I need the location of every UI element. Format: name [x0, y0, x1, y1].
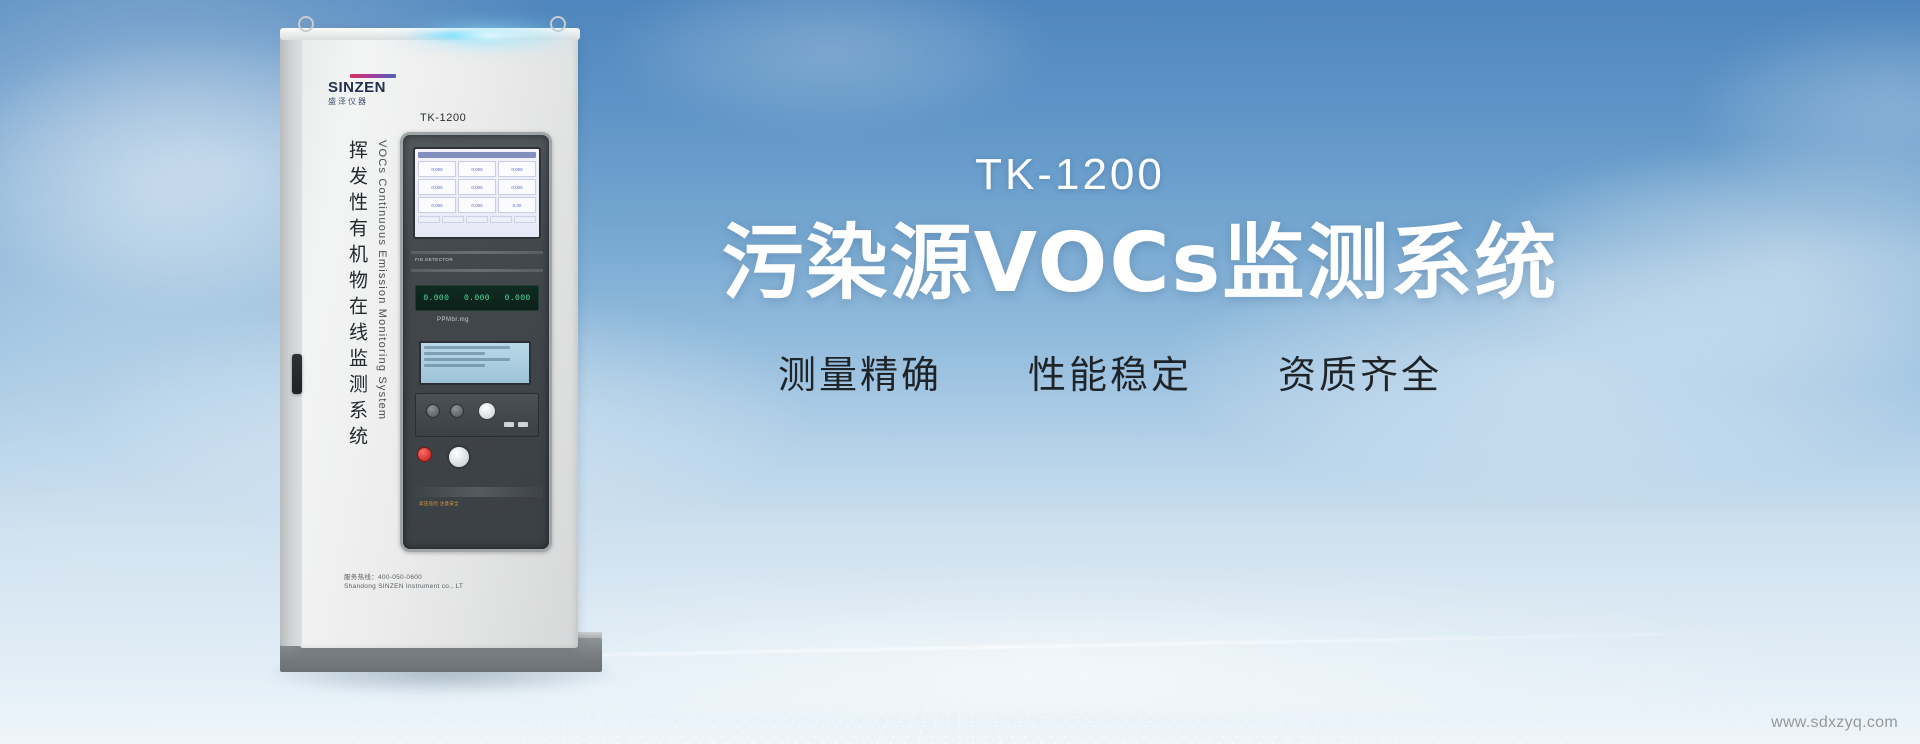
feature-item: 资质齐全	[1278, 344, 1442, 399]
rotary-knob-icon[interactable]	[450, 404, 464, 418]
lower-module-strip	[413, 487, 543, 497]
gas-readout-display: 0.000 0.000 0.000	[415, 285, 539, 311]
lcd-line	[424, 346, 510, 349]
rotary-knob-icon[interactable]	[426, 404, 440, 418]
cabinet-footer-label: 服务热线：400-050-0600 Shandong SINZEN Instru…	[344, 574, 463, 592]
hmi-cell: 0.000	[418, 197, 456, 213]
cabinet-brand: SINZEN 盛泽仪器	[328, 74, 448, 107]
hmi-footer-button	[466, 216, 488, 223]
readout-value: 0.000	[505, 294, 531, 303]
lcd-line	[424, 364, 485, 367]
toggle-switch-icon[interactable]	[504, 422, 514, 427]
module-divider	[411, 269, 543, 272]
product-banner: SINZEN 盛泽仪器 TK-1200 挥发性有机物在线监测系统 VOCs Co…	[0, 0, 1920, 744]
brand-name-cn: 盛泽仪器	[328, 96, 448, 107]
readout-unit-label: PPMbr.mg	[437, 317, 469, 323]
hmi-cell: 0.000	[458, 197, 496, 213]
emergency-stop-button[interactable]	[417, 447, 432, 462]
lcd-line	[424, 358, 510, 361]
warning-label: 高压危险 注意安全	[419, 501, 459, 507]
feature-item: 性能稳定	[1028, 344, 1192, 399]
hmi-cell: 0.000	[498, 161, 536, 177]
banner-headline: 污染源VOCs监测系统	[660, 218, 1620, 310]
status-led-strip	[408, 32, 540, 39]
hmi-footer-button	[418, 216, 440, 223]
hmi-footer-buttons	[418, 216, 536, 223]
model-label: TK-1200	[660, 150, 1480, 200]
control-panel[interactable]	[415, 393, 539, 437]
service-hotline: 服务热线：400-050-0600	[344, 574, 463, 583]
cabinet-vertical-title-cn: 挥发性有机物在线监测系统	[344, 140, 371, 452]
hmi-cell: 0.000	[418, 161, 456, 177]
hmi-cell: 0.00	[498, 197, 536, 213]
hmi-titlebar	[418, 152, 536, 158]
feature-list: 测量精确 性能稳定 资质齐全	[660, 344, 1560, 399]
hmi-cell: 0.000	[498, 179, 536, 195]
hmi-value-grid: 0.000 0.000 0.000 0.000 0.000 0.000 0.00…	[418, 161, 536, 213]
brand-name: SINZEN	[328, 80, 448, 95]
banner-copy: TK-1200 污染源VOCs监测系统 测量精确 性能稳定 资质齐全	[660, 150, 1840, 399]
hmi-footer-button	[442, 216, 464, 223]
analyzer-cabinet: SINZEN 盛泽仪器 TK-1200 挥发性有机物在线监测系统 VOCs Co…	[300, 28, 580, 688]
lcd-line	[424, 352, 485, 355]
hmi-cell: 0.000	[458, 179, 496, 195]
hmi-cell: 0.000	[458, 161, 496, 177]
eyebolt-icon	[298, 16, 314, 32]
feature-item: 测量精确	[778, 344, 942, 399]
hmi-footer-button	[514, 216, 536, 223]
cabinet-model-tag: TK-1200	[420, 112, 466, 124]
cabinet-door-window[interactable]: 0.000 0.000 0.000 0.000 0.000 0.000 0.00…	[400, 132, 552, 552]
site-watermark: www.sdxzyq.com	[1771, 714, 1898, 732]
door-handle[interactable]	[292, 354, 302, 394]
main-pressure-gauge-icon	[447, 445, 471, 469]
hmi-cell: 0.000	[418, 179, 456, 195]
module-divider	[411, 251, 543, 254]
readout-value: 0.000	[423, 294, 449, 303]
toggle-switch-icon[interactable]	[518, 422, 528, 427]
pressure-gauge-icon	[478, 402, 496, 420]
hmi-touchscreen[interactable]: 0.000 0.000 0.000 0.000 0.000 0.000 0.00…	[413, 147, 541, 239]
cabinet-left-edge	[280, 34, 302, 646]
module-label: FID DETECTOR	[415, 257, 453, 262]
hmi-footer-button	[490, 216, 512, 223]
secondary-lcd-panel	[419, 341, 531, 385]
cabinet-vertical-title-en: VOCs Continuous Emission Monitoring Syst…	[376, 140, 388, 420]
brand-accent-bar	[350, 74, 396, 78]
readout-value: 0.000	[464, 294, 490, 303]
company-name-en: Shandong SINZEN Instrument co., LT	[344, 583, 463, 592]
